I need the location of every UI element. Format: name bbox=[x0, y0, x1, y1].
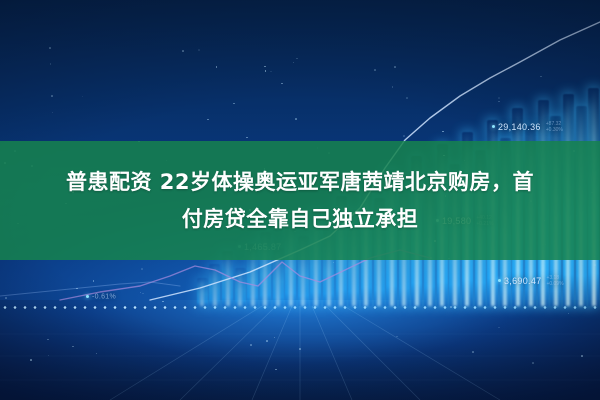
quote-value: 3,690.47 bbox=[504, 276, 541, 286]
headline-line-2: 付房贷全靠自己独立承担 bbox=[20, 201, 580, 238]
quote-marker-dot bbox=[86, 295, 89, 298]
quote-marker-dot bbox=[498, 279, 501, 282]
quote-hi: 29,140.36+87.32+0.30% bbox=[492, 118, 563, 136]
quote-low: 3,690.47+3.18+0.09% bbox=[498, 272, 564, 290]
quote-marker-dot bbox=[492, 125, 495, 128]
quote-value: -0.61% bbox=[92, 293, 116, 300]
quote-change: +3.18+0.09% bbox=[546, 275, 563, 287]
page-title: 普患配资 22岁体操奥运亚军唐茜靖北京购房，首 付房贷全靠自己独立承担 bbox=[20, 164, 580, 238]
quote-change: +87.32+0.30% bbox=[546, 121, 563, 133]
quote-value: 29,140.36 bbox=[498, 122, 541, 132]
headline-band: 普患配资 22岁体操奥运亚军唐茜靖北京购房，首 付房贷全靠自己独立承担 bbox=[0, 141, 600, 260]
quote-pct: -0.61% bbox=[86, 288, 116, 306]
headline-line-1: 普患配资 22岁体操奥运亚军唐茜靖北京购房，首 bbox=[66, 170, 534, 194]
cover-image-canvas: 29,140.36+87.32+0.30%19,580+40.12+0.21%3… bbox=[0, 0, 600, 400]
